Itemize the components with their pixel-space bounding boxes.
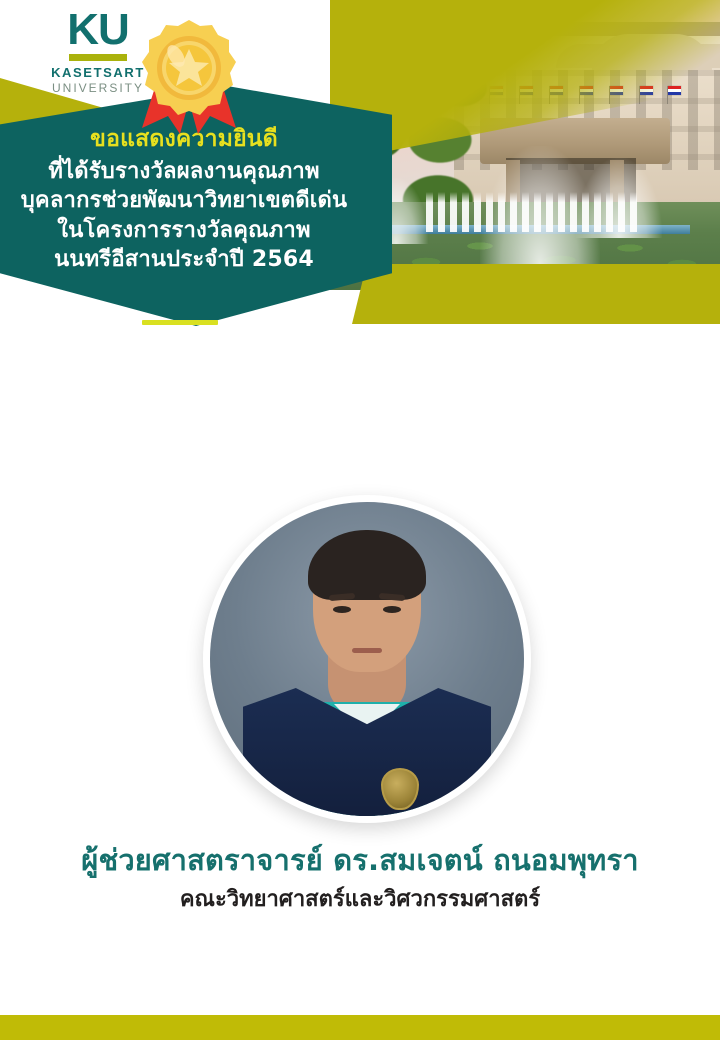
bottom-olive-bar [0, 1015, 720, 1040]
portrait-eye-left [333, 606, 351, 613]
photo-fountain-spray-right [576, 158, 662, 238]
honoree-name: ผู้ช่วยศาสตราจารย์ ดร.สมเจตน์ ถนอมพุทรา [0, 842, 720, 880]
award-medal-icon [130, 16, 248, 136]
portrait-mouth [352, 648, 382, 653]
congratulation-poster: ขอแสดงความยินดี ที่ได้รับรางวัลผลงานคุณภ… [0, 0, 720, 1040]
honoree-faculty: คณะวิทยาศาสตร์และวิศวกรรมศาสตร์ [0, 886, 720, 915]
honoree-portrait [203, 495, 531, 823]
honoree-name-block: ผู้ช่วยศาสตราจารย์ ดร.สมเจตน์ ถนอมพุทรา … [0, 842, 720, 914]
banner-accent-rule [142, 320, 218, 325]
olive-bar-right [352, 264, 720, 324]
ku-logo-bar [69, 54, 127, 61]
portrait-eye-right [383, 606, 401, 613]
